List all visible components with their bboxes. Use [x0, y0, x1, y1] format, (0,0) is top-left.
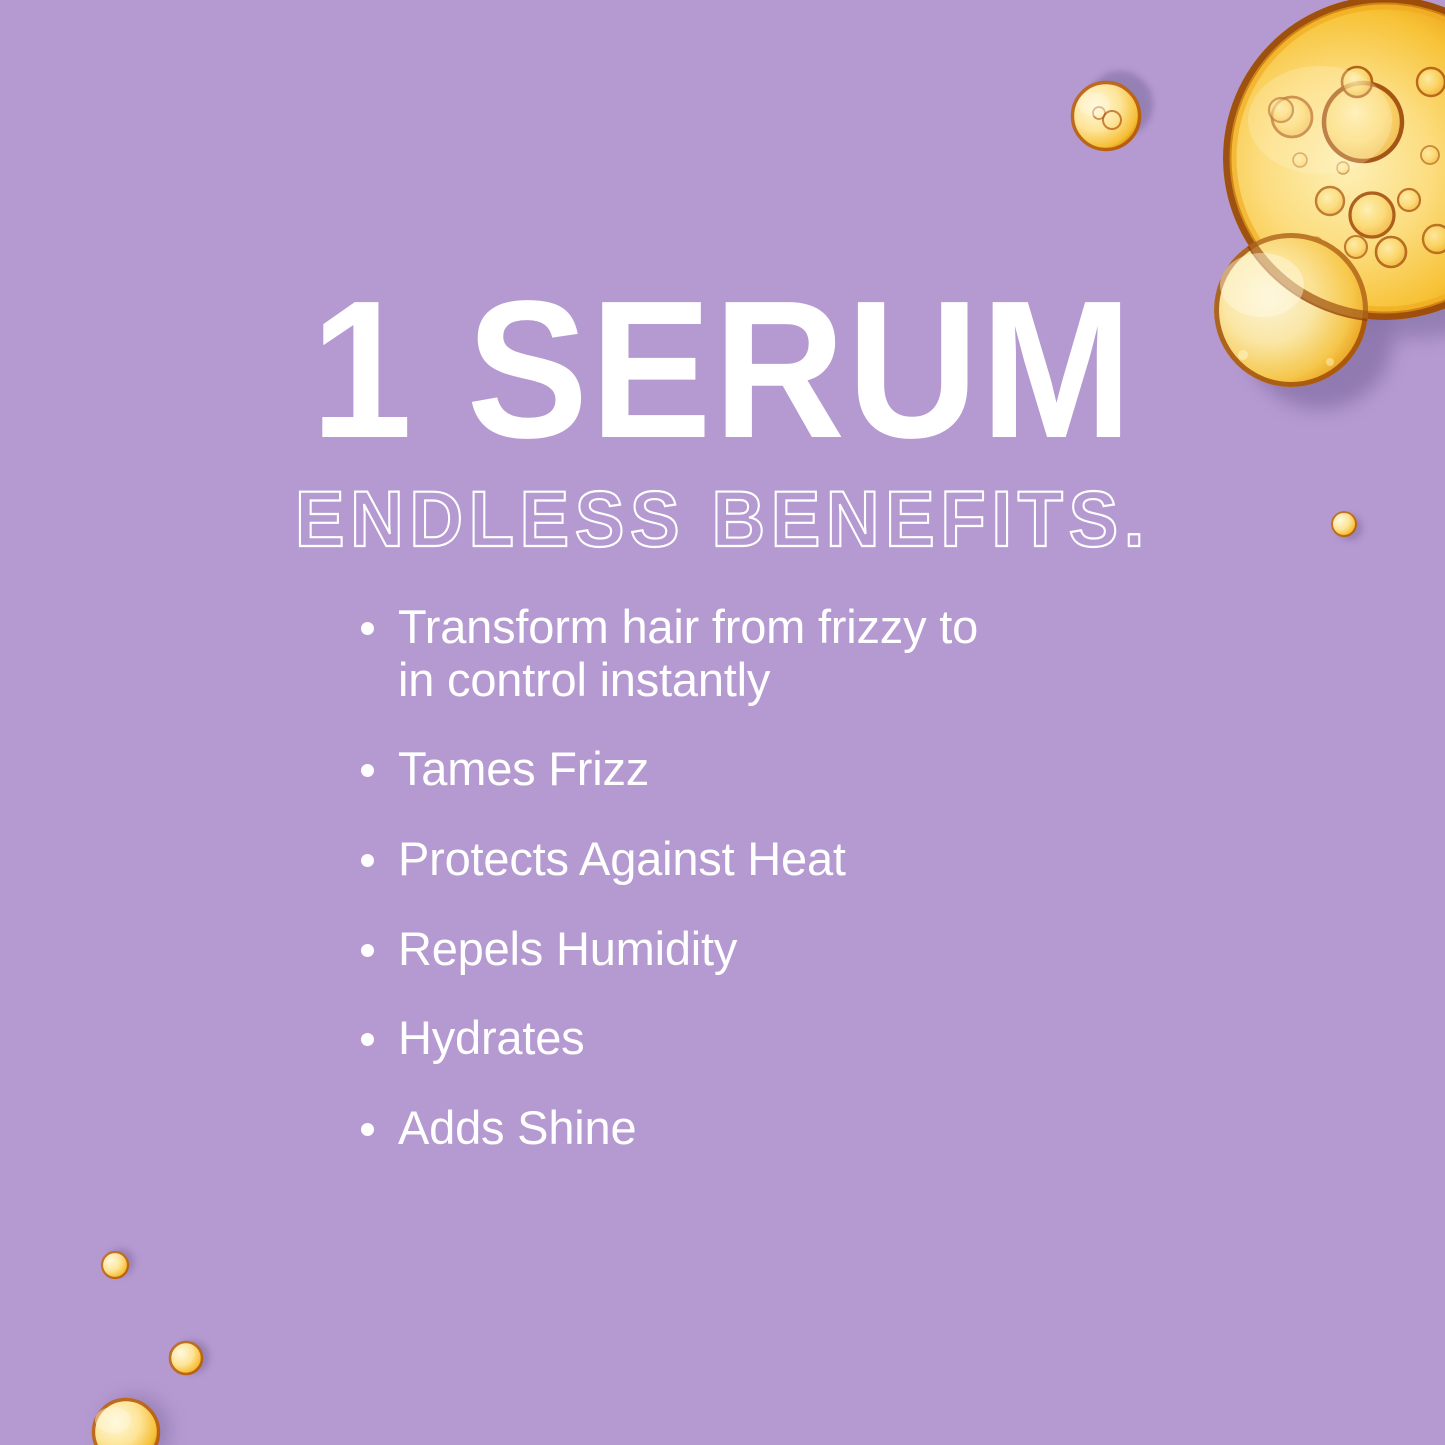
benefit-label: Repels Humidity: [398, 923, 1178, 976]
bullet-dot-icon: [361, 622, 374, 635]
page-title: 1 SERUM: [51, 272, 1395, 468]
benefit-list-item: Adds Shine: [358, 1102, 1178, 1155]
benefit-label: Adds Shine: [398, 1102, 1178, 1155]
benefit-list-item: Tames Frizz: [358, 743, 1178, 796]
bullet-dot-icon: [361, 854, 374, 867]
benefits-list: Transform hair from frizzy to in control…: [358, 601, 1178, 1154]
bullet-dot-icon: [361, 764, 374, 777]
bullet-dot-icon: [361, 1033, 374, 1046]
benefit-label: Protects Against Heat: [398, 833, 1178, 886]
bullet-dot-icon: [361, 1123, 374, 1136]
benefit-label: Hydrates: [398, 1012, 1178, 1065]
benefit-label: Tames Frizz: [398, 743, 1178, 796]
promo-canvas: 1 SERUM ENDLESS BENEFITS. Transform hair…: [0, 0, 1445, 1445]
benefit-list-item: Transform hair from frizzy to in control…: [358, 601, 1178, 706]
bullet-dot-icon: [361, 944, 374, 957]
content-block: 1 SERUM ENDLESS BENEFITS. Transform hair…: [0, 0, 1445, 1445]
page-subtitle: ENDLESS BENEFITS.: [43, 479, 1401, 558]
benefit-list-item: Repels Humidity: [358, 923, 1178, 976]
benefit-label: Transform hair from frizzy to in control…: [398, 601, 1178, 706]
benefit-list-item: Protects Against Heat: [358, 833, 1178, 886]
benefit-list-item: Hydrates: [358, 1012, 1178, 1065]
